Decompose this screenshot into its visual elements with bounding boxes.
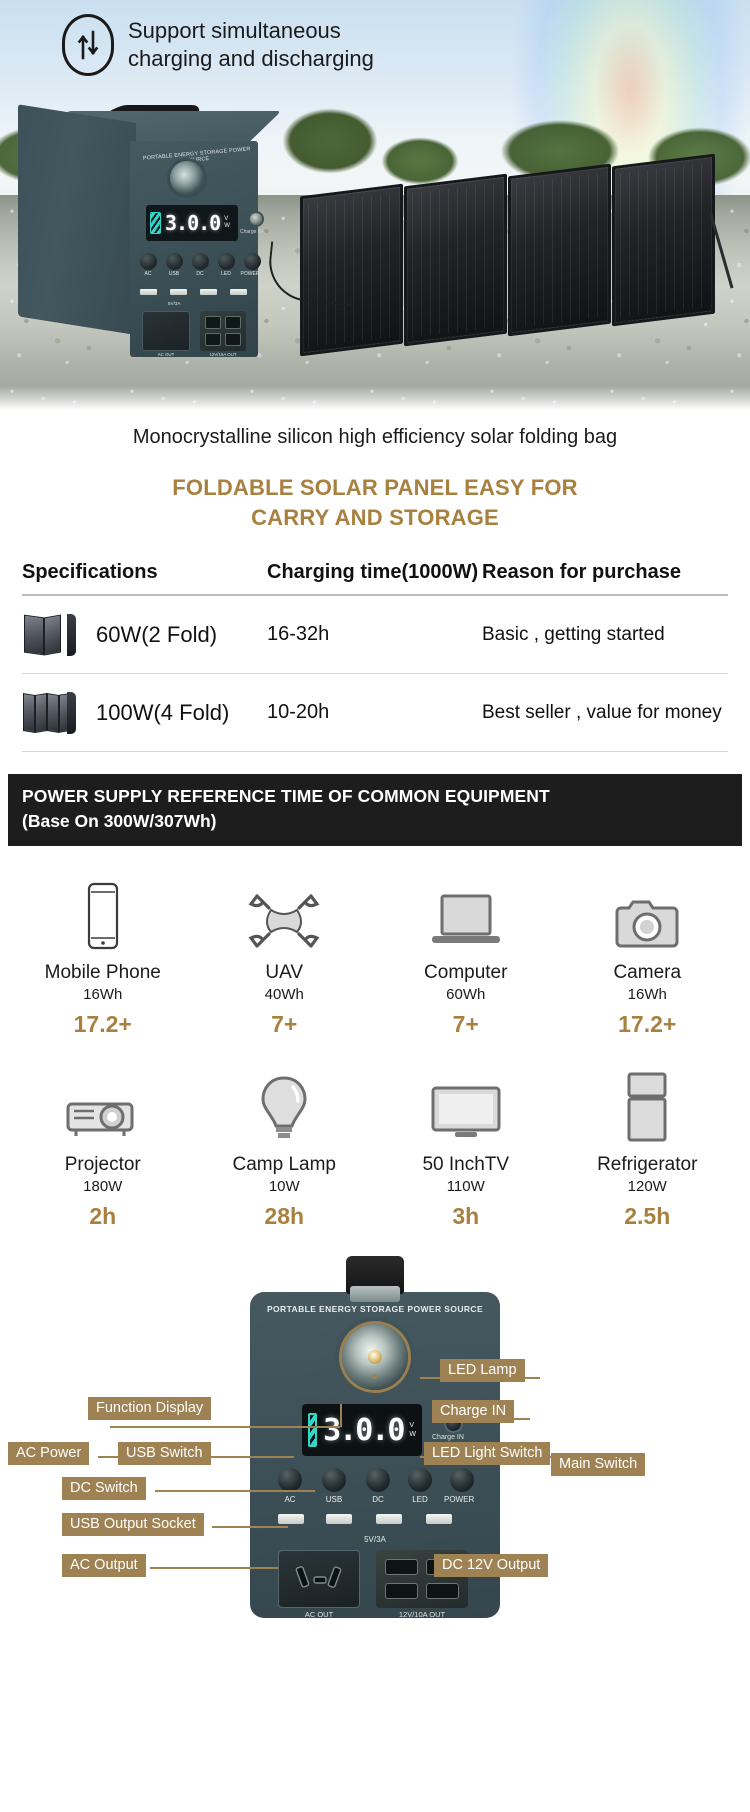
usb-rating-label: 5V/3A	[250, 1535, 500, 1544]
usb-port-3	[200, 289, 217, 295]
equipment-name: Mobile Phone	[12, 962, 194, 984]
solar-pane-3	[508, 164, 611, 337]
equipment-spec: 40Wh	[194, 986, 376, 1003]
feature-badge: Support simultaneous charging and discha…	[62, 14, 374, 76]
reason-value: Best seller , value for money	[482, 702, 728, 724]
up-down-arrows-icon	[62, 14, 114, 76]
banner-line-1: POWER SUPPLY REFERENCE TIME OF COMMON EQ…	[22, 786, 728, 807]
equipment-runtime: 2.5h	[557, 1203, 739, 1230]
charge-in-port-label: Charge IN	[432, 1434, 464, 1441]
solar-panel-2fold-icon	[22, 610, 78, 660]
equipment-runtime-grid: Mobile Phone 16Wh 17.2+ UAV 40Wh 7+ Comp…	[0, 876, 750, 1230]
equipment-name: UAV	[194, 962, 376, 984]
list-item: 50 InchTV 110W 3h	[375, 1068, 557, 1230]
unit-side-face	[18, 104, 136, 335]
callout-usb-output-socket: USB Output Socket	[62, 1513, 204, 1536]
usb-port-4	[426, 1514, 452, 1524]
leader-line-function-display-v	[340, 1404, 342, 1427]
anchor-charge-in	[448, 1415, 453, 1420]
table-row: 100W(4 Fold) 10-20h Best seller , value …	[22, 674, 728, 752]
knob-power	[244, 253, 261, 270]
knob-label-ac: AC	[275, 1495, 305, 1504]
callout-charge-in: Charge IN	[432, 1400, 514, 1423]
callout-ac-power: AC Power	[8, 1442, 89, 1465]
equipment-spec: 180W	[12, 1178, 194, 1195]
leader-line-usb-output	[212, 1526, 288, 1528]
dc-out-label: 12V/10A OUT	[376, 1610, 468, 1619]
equipment-name: Computer	[375, 962, 557, 984]
knob-label-led: LED	[405, 1495, 435, 1504]
equipment-spec: 16Wh	[557, 986, 739, 1003]
usb-port-2	[170, 289, 187, 295]
reason-value: Basic , getting started	[482, 624, 728, 646]
ac-out-label: AC OUT	[278, 1610, 360, 1619]
solar-panel-product	[300, 160, 720, 350]
usb-port-4	[230, 289, 247, 295]
leader-line-usb-switch	[214, 1456, 294, 1458]
usb-port-2	[326, 1514, 352, 1524]
spec-header-reason: Reason for purchase	[482, 561, 728, 584]
usb-port-1	[140, 289, 157, 295]
feature-badge-text: Support simultaneous charging and discha…	[128, 17, 374, 73]
equipment-spec: 110W	[375, 1178, 557, 1195]
banner-line-2: (Base On 300W/307Wh)	[22, 811, 728, 832]
knob-led	[218, 253, 235, 270]
section-headline: FOLDABLE SOLAR PANEL EASY FOR CARRY AND …	[0, 473, 750, 533]
display-value: 3.0.0	[165, 211, 220, 235]
callout-dc-switch: DC Switch	[62, 1477, 146, 1500]
equipment-runtime: 3h	[375, 1203, 557, 1230]
list-item: UAV 40Wh 7+	[194, 876, 376, 1038]
knob-label-power: POWER	[444, 1495, 474, 1504]
battery-bar-icon	[150, 212, 161, 234]
list-item: Refrigerator 120W 2.5h	[557, 1068, 739, 1230]
spec-header-charging-time: Charging time(1000W)	[267, 561, 482, 584]
product-caption: Monocrystalline silicon high efficiency …	[0, 426, 750, 449]
ac-outlet	[142, 311, 190, 351]
knob-dc[interactable]	[366, 1468, 390, 1492]
knob-led[interactable]	[408, 1468, 432, 1492]
function-display: 3.0.0 V W	[146, 205, 238, 241]
list-item: Computer 60Wh 7+	[375, 876, 557, 1038]
camera-icon	[557, 876, 739, 950]
leader-line-ac-output	[150, 1567, 278, 1569]
top-cap-ring	[350, 1286, 400, 1302]
list-item: Camera 16Wh 17.2+	[557, 876, 739, 1038]
leader-line-dc-switch	[155, 1490, 315, 1492]
projector-icon	[12, 1068, 194, 1142]
equipment-name: Refrigerator	[557, 1154, 739, 1176]
callout-led-lamp: LED Lamp	[440, 1359, 525, 1382]
uav-drone-icon	[194, 876, 376, 950]
display-unit-v: V	[409, 1421, 416, 1430]
reference-time-banner: POWER SUPPLY REFERENCE TIME OF COMMON EQ…	[8, 774, 742, 846]
television-icon	[375, 1068, 557, 1142]
function-display: 3.0.0 V W	[302, 1404, 422, 1456]
knob-label-ac: AC	[138, 271, 158, 277]
leader-line-function-display	[110, 1426, 340, 1428]
power-station-product: PORTABLE ENERGY STORAGE POWER SOURCE 3.0…	[18, 105, 274, 355]
spec-value: 100W(4 Fold)	[96, 700, 229, 726]
usb-rating-label: 5V/3A	[168, 301, 181, 306]
table-row: 60W(2 Fold) 16-32h Basic , getting start…	[22, 596, 728, 674]
led-lamp	[342, 1324, 408, 1390]
callout-ac-output: AC Output	[62, 1554, 146, 1577]
equipment-runtime: 17.2+	[557, 1011, 739, 1038]
callout-function-display: Function Display	[88, 1397, 211, 1420]
display-unit-w: W	[409, 1430, 416, 1439]
knob-label-power: POWER	[240, 271, 260, 277]
knob-label-usb: USB	[164, 271, 184, 277]
equipment-name: 50 InchTV	[375, 1154, 557, 1176]
spec-value: 60W(2 Fold)	[96, 622, 217, 648]
knob-ac	[140, 253, 157, 270]
equipment-name: Camp Lamp	[194, 1154, 376, 1176]
charge-in-label: Charge IN	[240, 229, 263, 235]
knob-label-dc: DC	[363, 1495, 393, 1504]
charge-in-port	[250, 213, 262, 225]
specifications-table: Specifications Charging time(1000W) Reas…	[22, 561, 728, 752]
mobile-phone-icon	[12, 876, 194, 950]
battery-bar-icon	[308, 1413, 317, 1447]
list-item: Mobile Phone 16Wh 17.2+	[12, 876, 194, 1038]
laptop-icon	[375, 876, 557, 950]
ac-outlet	[278, 1550, 360, 1608]
light-bulb-icon	[194, 1068, 376, 1142]
callout-led-light-switch: LED Light Switch	[424, 1442, 550, 1465]
dc-outlet-group	[200, 311, 246, 351]
refrigerator-icon	[557, 1068, 739, 1142]
knob-label-usb: USB	[319, 1495, 349, 1504]
knob-power[interactable]	[450, 1468, 474, 1492]
knob-usb[interactable]	[322, 1468, 346, 1492]
list-item: Camp Lamp 10W 28h	[194, 1068, 376, 1230]
brand-text: PORTABLE ENERGY STORAGE POWER SOURCE	[250, 1304, 500, 1314]
spec-table-header: Specifications Charging time(1000W) Reas…	[22, 561, 728, 596]
equipment-spec: 60Wh	[375, 986, 557, 1003]
anchor-led-lamp	[372, 1374, 377, 1379]
equipment-runtime: 7+	[375, 1011, 557, 1038]
dc-out-label: 12V/10A OUT	[200, 352, 246, 357]
equipment-name: Projector	[12, 1154, 194, 1176]
equipment-runtime: 28h	[194, 1203, 376, 1230]
hero-banner: PORTABLE ENERGY STORAGE POWER SOURCE 3.0…	[0, 0, 750, 412]
solar-panel-4fold-icon	[22, 688, 78, 738]
callout-main-switch: Main Switch	[551, 1453, 645, 1476]
knob-dc	[192, 253, 209, 270]
equipment-runtime: 2h	[12, 1203, 194, 1230]
hero-bottom-fade	[0, 386, 750, 412]
equipment-spec: 120W	[557, 1178, 739, 1195]
equipment-runtime: 17.2+	[12, 1011, 194, 1038]
ac-out-label: AC OUT	[142, 352, 190, 357]
equipment-spec: 10W	[194, 1178, 376, 1195]
spec-header-specifications: Specifications	[22, 561, 267, 584]
led-lamp	[170, 161, 204, 195]
callout-dc-12v-output: DC 12V Output	[434, 1554, 548, 1577]
list-item: Projector 180W 2h	[12, 1068, 194, 1230]
equipment-runtime: 7+	[194, 1011, 376, 1038]
solar-pane-2	[404, 174, 507, 347]
display-value: 3.0.0	[323, 1413, 403, 1448]
knob-ac[interactable]	[278, 1468, 302, 1492]
equipment-name: Camera	[557, 962, 739, 984]
product-callout-diagram: PORTABLE ENERGY STORAGE POWER SOURCE 3.0…	[0, 1264, 750, 1624]
equipment-spec: 16Wh	[12, 986, 194, 1003]
knob-label-led: LED	[216, 271, 236, 277]
usb-port-3	[376, 1514, 402, 1524]
charging-time-value: 16-32h	[267, 623, 482, 646]
knob-usb	[166, 253, 183, 270]
callout-usb-switch: USB Switch	[118, 1442, 211, 1465]
knob-label-dc: DC	[190, 271, 210, 277]
display-unit-w: W	[224, 223, 230, 230]
charging-time-value: 10-20h	[267, 701, 482, 724]
usb-port-1	[278, 1514, 304, 1524]
display-unit-v: V	[224, 216, 230, 223]
